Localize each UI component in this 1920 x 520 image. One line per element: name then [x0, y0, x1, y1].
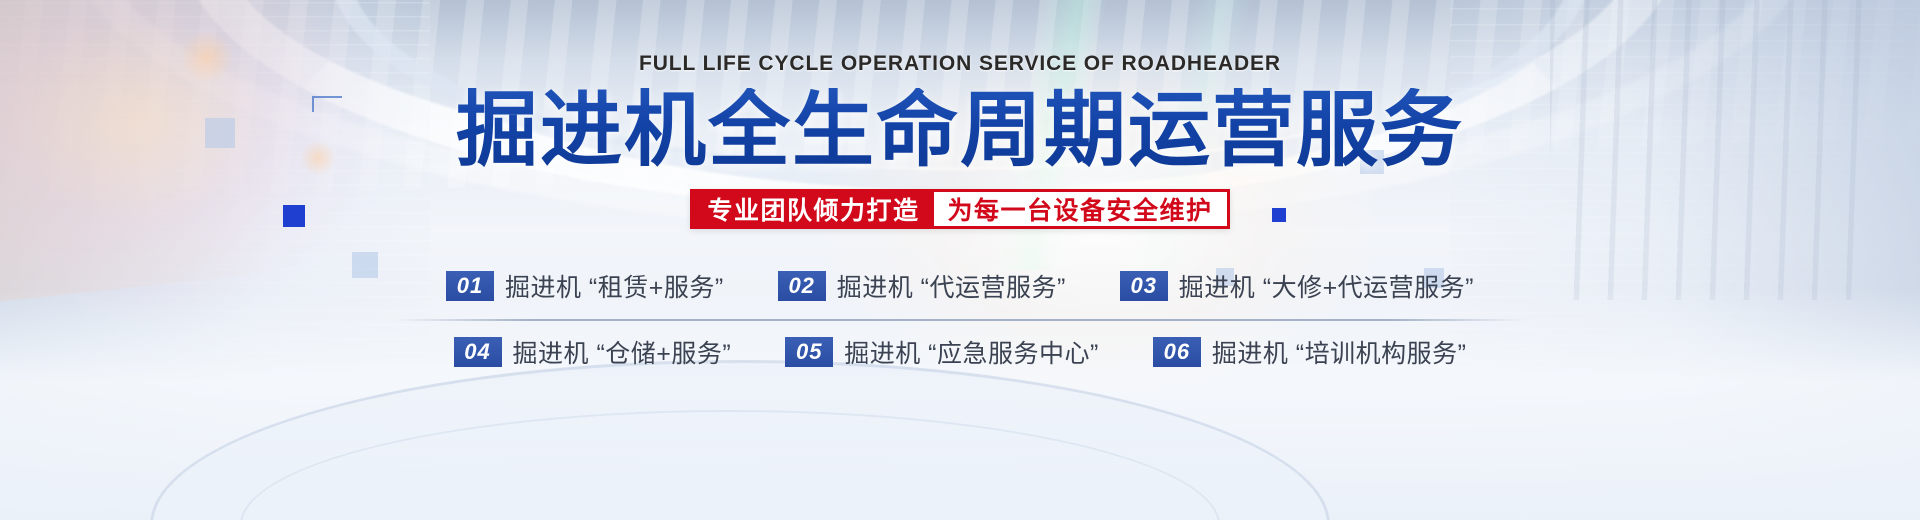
service-item-03[interactable]: 03 掘进机 “大修+代运营服务” — [1120, 268, 1474, 304]
service-item-label: 掘进机 “仓储+服务” — [513, 334, 732, 370]
banner-root: FULL LIFE CYCLE OPERATION SERVICE OF ROA… — [0, 0, 1920, 520]
service-list: 01 掘进机 “租赁+服务” 02 掘进机 “代运营服务” 03 掘进机 “大修… — [345, 263, 1575, 375]
service-row-1: 01 掘进机 “租赁+服务” 02 掘进机 “代运营服务” 03 掘进机 “大修… — [446, 263, 1474, 309]
service-number-badge: 04 — [454, 337, 502, 367]
service-item-04[interactable]: 04 掘进机 “仓储+服务” — [454, 334, 732, 370]
service-number-badge: 02 — [778, 271, 826, 301]
service-item-label: 掘进机 “代运营服务” — [837, 268, 1066, 304]
service-item-label: 掘进机 “培训机构服务” — [1212, 334, 1467, 370]
service-number-badge: 03 — [1120, 271, 1168, 301]
slogan-secondary: 为每一台设备安全维护 — [934, 192, 1227, 226]
service-item-02[interactable]: 02 掘进机 “代运营服务” — [778, 268, 1066, 304]
banner-content: FULL LIFE CYCLE OPERATION SERVICE OF ROA… — [0, 0, 1920, 520]
service-row-2: 04 掘进机 “仓储+服务” 05 掘进机 “应急服务中心” 06 掘进机 “培… — [454, 329, 1467, 375]
service-divider — [395, 319, 1525, 321]
service-item-label: 掘进机 “大修+代运营服务” — [1179, 268, 1474, 304]
service-item-label: 掘进机 “应急服务中心” — [844, 334, 1099, 370]
slogan-primary: 专业团队倾力打造 — [693, 192, 933, 226]
service-number-badge: 05 — [785, 337, 833, 367]
service-number-badge: 06 — [1153, 337, 1201, 367]
english-subtitle: FULL LIFE CYCLE OPERATION SERVICE OF ROA… — [639, 52, 1281, 76]
service-item-06[interactable]: 06 掘进机 “培训机构服务” — [1153, 334, 1467, 370]
slogan-banner: 专业团队倾力打造 为每一台设备安全维护 — [690, 189, 1229, 229]
page-title: 掘进机全生命周期运营服务 — [456, 88, 1464, 173]
service-item-label: 掘进机 “租赁+服务” — [505, 268, 724, 304]
service-item-01[interactable]: 01 掘进机 “租赁+服务” — [446, 268, 724, 304]
service-number-badge: 01 — [446, 271, 494, 301]
service-item-05[interactable]: 05 掘进机 “应急服务中心” — [785, 334, 1099, 370]
